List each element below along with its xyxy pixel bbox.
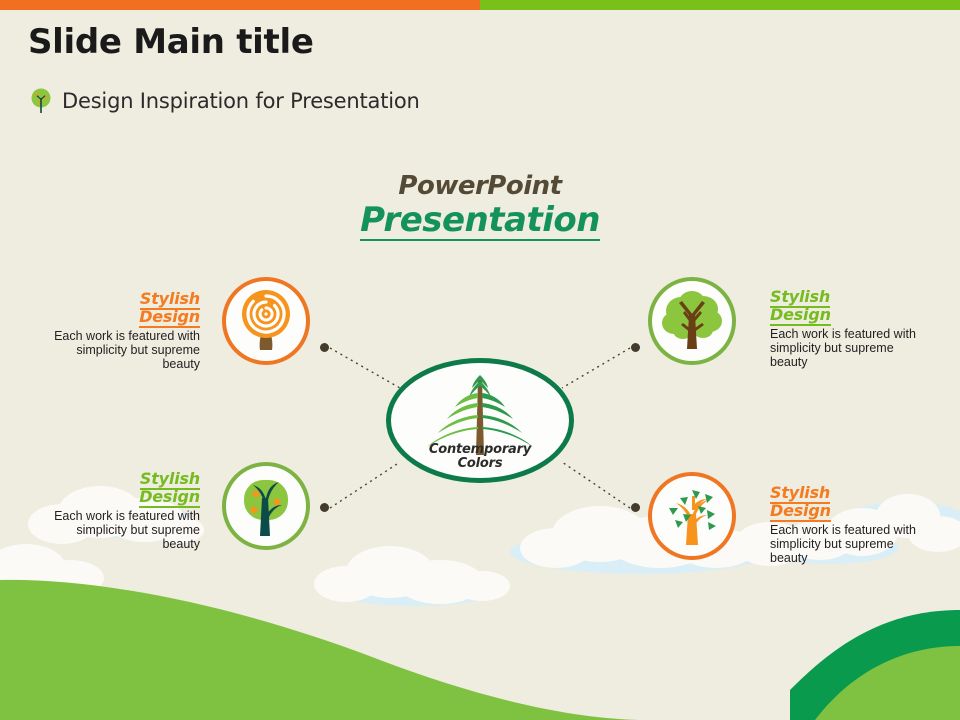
- label-heading-bottom-left: Stylish Design: [40, 470, 200, 506]
- slide-canvas: Slide Main title Design Inspiration for …: [0, 0, 960, 720]
- label-heading-line2-bottom-right: Design: [770, 501, 831, 522]
- center-label-line2: Colors: [391, 457, 569, 472]
- label-block-bottom-left: Stylish Design Each work is featured wit…: [40, 470, 200, 551]
- center-heading-block: PowerPoint Presentation: [0, 172, 960, 241]
- connector-dot-top-right: [631, 343, 640, 352]
- center-node-label: Contemporary Colors: [391, 443, 569, 472]
- connector-dot-bottom-left: [320, 503, 329, 512]
- label-heading-top-right: Stylish Design: [770, 288, 930, 324]
- label-block-top-right: Stylish Design Each work is featured wit…: [770, 288, 930, 369]
- connector-dot-bottom-right: [631, 503, 640, 512]
- label-heading-line2-top-right: Design: [770, 305, 831, 326]
- label-body-bottom-right: Each work is featured with simplicity bu…: [770, 523, 930, 565]
- connector-top-left: [330, 348, 400, 388]
- connector-top-right: [562, 348, 630, 388]
- heading-powerpoint: PowerPoint: [0, 172, 960, 200]
- page-title: Slide Main title: [28, 22, 314, 62]
- label-body-top-right: Each work is featured with simplicity bu…: [770, 327, 930, 369]
- label-body-bottom-left: Each work is featured with simplicity bu…: [40, 509, 200, 551]
- label-block-top-left: Stylish Design Each work is featured wit…: [40, 290, 200, 371]
- tree-icon: [30, 88, 52, 114]
- label-heading-line2-bottom-left: Design: [139, 487, 200, 508]
- heading-presentation: Presentation: [360, 202, 600, 241]
- connector-bottom-left: [330, 462, 400, 508]
- subtitle-text: Design Inspiration for Presentation: [62, 89, 420, 113]
- center-node[interactable]: Contemporary Colors: [386, 358, 574, 483]
- connector-dot-top-left: [320, 343, 329, 352]
- subtitle-row: Design Inspiration for Presentation: [30, 88, 420, 114]
- label-heading-line2-top-left: Design: [139, 307, 200, 328]
- label-block-bottom-right: Stylish Design Each work is featured wit…: [770, 484, 930, 565]
- label-heading-top-left: Stylish Design: [40, 290, 200, 326]
- connector-bottom-right: [562, 462, 630, 508]
- center-label-line1: Contemporary: [391, 443, 569, 458]
- label-body-top-left: Each work is featured with simplicity bu…: [40, 329, 200, 371]
- label-heading-bottom-right: Stylish Design: [770, 484, 930, 520]
